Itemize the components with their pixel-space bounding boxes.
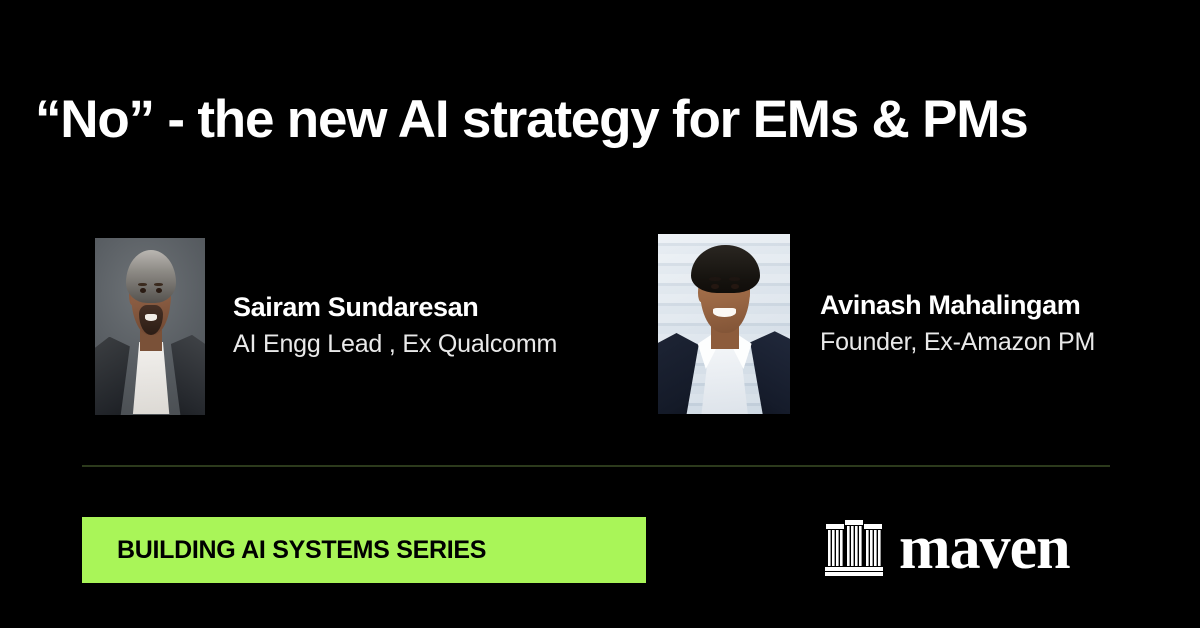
speaker-photo-2 [658,234,790,414]
columns-pillars-icon [825,520,883,576]
photo-eyebrow-left [709,277,721,281]
speaker-text-2: Avinash Mahalingam Founder, Ex-Amazon PM [820,289,1095,358]
speaker-name-1: Sairam Sundaresan [233,291,557,325]
series-badge-label: BUILDING AI SYSTEMS SERIES [117,536,486,565]
speaker-card-1: Sairam Sundaresan AI Engg Lead , Ex Qual… [95,236,557,416]
speaker-card-2: Avinash Mahalingam Founder, Ex-Amazon PM [658,234,1095,414]
photo-eye-left [711,284,719,290]
photo-eye-right [156,288,162,293]
speaker-photo-1 [95,238,205,415]
maven-logo: maven [825,512,1070,584]
photo-mouth [145,314,157,320]
series-badge: BUILDING AI SYSTEMS SERIES [82,517,646,583]
event-poster: “No” - the new AI strategy for EMs & PMs [0,0,1200,628]
maven-wordmark: maven [899,517,1070,579]
speakers-row: Sairam Sundaresan AI Engg Lead , Ex Qual… [0,234,1200,416]
speaker-text-1: Sairam Sundaresan AI Engg Lead , Ex Qual… [233,291,557,360]
photo-eye-right [731,284,739,290]
photo-eyebrow-right [154,283,163,287]
poster-title: “No” - the new AI strategy for EMs & PMs [35,92,1175,148]
speaker-role-2: Founder, Ex-Amazon PM [820,326,1095,359]
photo-mouth [713,308,735,317]
horizontal-divider [82,465,1110,467]
speaker-name-2: Avinash Mahalingam [820,289,1095,323]
speaker-role-1: AI Engg Lead , Ex Qualcomm [233,328,557,361]
